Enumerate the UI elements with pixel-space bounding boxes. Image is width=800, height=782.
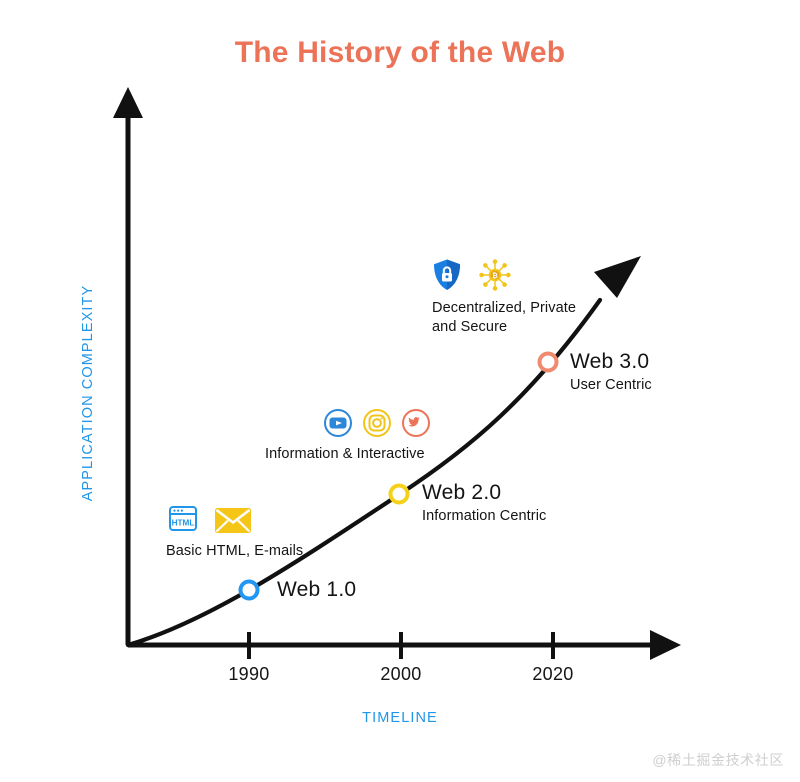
milestone-web2-subtitle: Information Centric — [422, 507, 546, 525]
shield-lock-icon — [432, 258, 462, 292]
html-browser-icon: HTML — [166, 501, 200, 535]
annotation-web3-text: Decentralized, Private and Secure — [432, 299, 576, 336]
annotation-web1-text: Basic HTML, E-mails — [166, 542, 303, 561]
annotation-web2: Information & Interactive — [265, 398, 431, 464]
annotation-web3-icons: ₿ — [432, 252, 576, 292]
annotation-web1: HTML Basic HTML, E-mails — [166, 495, 303, 561]
annotation-web2-icons — [265, 398, 431, 438]
growth-curve — [128, 300, 600, 645]
x-tick-label-2020: 2020 — [508, 664, 598, 685]
x-tick-label-2000: 2000 — [356, 664, 446, 685]
y-axis-title: APPLICATION COMPLEXITY — [80, 283, 96, 503]
milestone-web2: Web 2.0 Information Centric — [422, 481, 546, 525]
youtube-icon — [323, 408, 353, 438]
milestone-web1: Web 1.0 — [277, 578, 356, 602]
instagram-icon — [362, 408, 392, 438]
marker-web1[interactable] — [241, 582, 258, 599]
blockchain-node-icon: ₿ — [478, 258, 512, 292]
watermark: @稀土掘金技术社区 — [652, 750, 784, 770]
marker-web2[interactable] — [391, 486, 408, 503]
chart-canvas: The History of the Web APPLICATION COMPL… — [0, 0, 800, 782]
milestone-web2-name: Web 2.0 — [422, 481, 546, 505]
milestone-web3: Web 3.0 User Centric — [570, 350, 652, 394]
annotation-web1-icons: HTML — [166, 495, 303, 535]
milestone-web3-name: Web 3.0 — [570, 350, 652, 374]
milestone-web1-name: Web 1.0 — [277, 578, 356, 602]
y-axis-arrowhead — [113, 87, 143, 118]
svg-text:HTML: HTML — [172, 519, 195, 528]
annotation-web2-text: Information & Interactive — [265, 445, 431, 464]
x-axis-title: TIMELINE — [300, 710, 500, 726]
curve-arrowhead — [594, 256, 641, 298]
twitter-icon — [401, 408, 431, 438]
marker-web3[interactable] — [540, 354, 557, 371]
x-axis-arrowhead — [650, 630, 681, 660]
x-tick-label-1990: 1990 — [204, 664, 294, 685]
annotation-web3: ₿ Decentralized, Private and Secure — [432, 252, 576, 336]
envelope-icon — [214, 505, 252, 535]
milestone-web3-subtitle: User Centric — [570, 376, 652, 394]
svg-text:₿: ₿ — [492, 272, 498, 280]
